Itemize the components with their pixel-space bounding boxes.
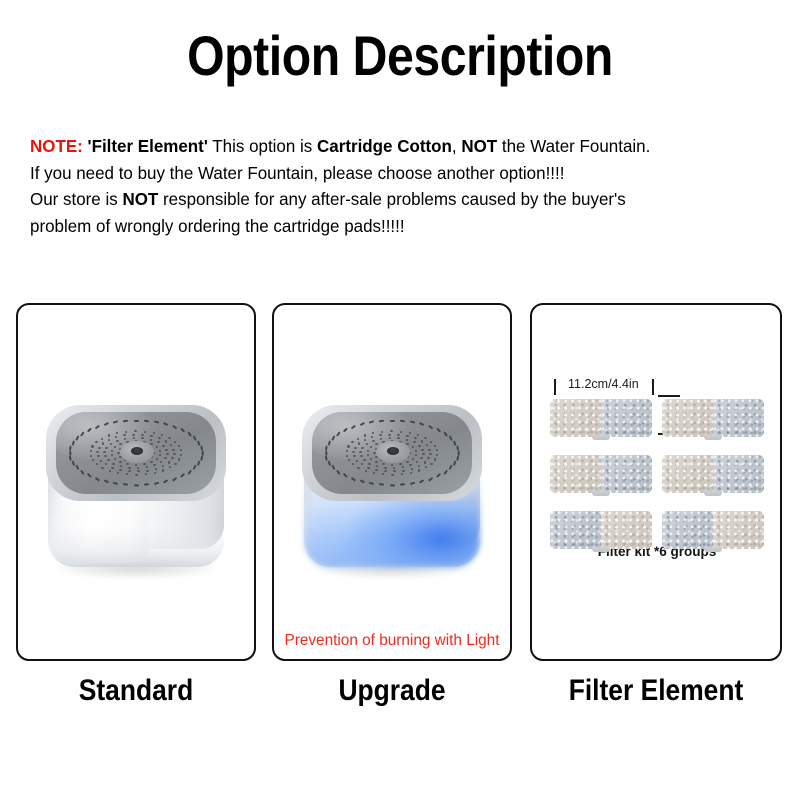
- fountain-water-outlet-hole: [387, 447, 399, 455]
- lid-perforation-dot: [413, 441, 416, 443]
- page-title: Option Description: [56, 28, 744, 84]
- lid-perforation-dot: [116, 440, 119, 442]
- lid-perforation-dash: [187, 431, 192, 436]
- lid-perforation-dot: [168, 437, 171, 439]
- lid-perforation-dot: [393, 470, 396, 472]
- lid-perforation-dash: [154, 421, 159, 425]
- lid-perforation-dot: [154, 472, 157, 474]
- cartridge-tab: [704, 491, 722, 496]
- lid-perforation-dot: [393, 467, 396, 469]
- lid-perforation-dot: [412, 458, 415, 460]
- lid-perforation-dot: [103, 451, 106, 453]
- note-line-2: If you need to buy the Water Fountain, p…: [30, 160, 759, 187]
- option-panel-filter-element[interactable]: 11.2cm/4.4in 4.3 cm /1.7in Filter kit *6…: [530, 303, 782, 661]
- lid-perforation-dot: [112, 463, 115, 465]
- lid-perforation-dot: [157, 441, 160, 443]
- lid-perforation-dash: [154, 482, 159, 486]
- lid-perforation-dot: [128, 467, 131, 469]
- lid-perforation-dash: [80, 469, 85, 474]
- lid-perforation-dot: [144, 431, 147, 433]
- lid-perforation-dash: [343, 473, 348, 478]
- lid-perforation-dot: [384, 470, 387, 472]
- lid-perforation-dash: [193, 465, 197, 471]
- note-line3-text2: responsible for any after-sale problems …: [158, 189, 625, 209]
- lid-perforation-dot: [424, 461, 427, 463]
- lid-perforation-dot: [174, 463, 177, 465]
- lid-perforation-dash: [180, 473, 185, 478]
- note-line3-text1: Our store is: [30, 189, 122, 209]
- lid-perforation-dot: [146, 466, 149, 468]
- lid-perforation-dot: [161, 434, 164, 436]
- lid-perforation-dash: [428, 425, 433, 430]
- cartridge-half-right: [713, 511, 764, 549]
- lid-perforation-dot: [155, 468, 158, 470]
- lid-perforation-dot: [119, 461, 122, 463]
- lid-perforation-dash: [443, 431, 448, 436]
- cartridge-half-left: [662, 399, 713, 437]
- lid-perforation-dot: [137, 467, 140, 469]
- lid-perforation-dash: [456, 455, 459, 460]
- lid-perforation-dot: [162, 469, 165, 471]
- lid-perforation-dot: [96, 451, 99, 453]
- water-fountain-upgrade-image: [294, 397, 490, 587]
- lid-perforation-dash: [336, 469, 341, 474]
- note-block: NOTE: 'Filter Element' This option is Ca…: [30, 133, 759, 239]
- lid-perforation-dash: [71, 460, 75, 465]
- lid-perforation-dash: [390, 484, 395, 486]
- lid-perforation-dash: [200, 445, 203, 450]
- lid-perforation-dot: [384, 467, 387, 469]
- note-label: NOTE:: [30, 136, 83, 156]
- lid-perforation-dot: [180, 449, 183, 451]
- lid-perforation-dash: [456, 445, 459, 450]
- lid-perforation-dash: [75, 465, 79, 471]
- cartridge-half-left: [550, 455, 601, 493]
- option-panel-upgrade[interactable]: Prevention of burning with Light: [272, 303, 512, 661]
- cartridge-tab: [592, 547, 610, 552]
- lid-perforation-dash: [449, 465, 453, 471]
- lid-perforation-dash: [144, 483, 149, 486]
- lid-perforation-dot: [415, 454, 418, 456]
- lid-perforation-dot: [402, 466, 405, 468]
- lid-perforation-dot: [391, 474, 394, 476]
- lid-perforation-dot: [162, 445, 165, 447]
- lid-perforation-dot: [111, 467, 114, 469]
- water-fountain-standard-image: [38, 397, 234, 587]
- lid-perforation-dot: [409, 432, 412, 434]
- lid-perforation-dash: [369, 482, 374, 486]
- lid-perforation-dot: [365, 470, 368, 472]
- lid-perforation-dash: [443, 469, 448, 474]
- option-label-filter-element: Filter Element: [540, 672, 772, 710]
- cartridge-half-right: [713, 455, 764, 493]
- fountain-water-outlet-hole: [131, 447, 143, 455]
- lid-perforation-dot: [135, 464, 138, 466]
- lid-perforation-dot: [141, 434, 144, 436]
- lid-perforation-dot: [410, 472, 413, 474]
- lid-perforation-dot: [105, 447, 108, 449]
- lid-perforation-dash: [428, 476, 433, 481]
- lid-perforation-dot: [166, 453, 169, 455]
- lid-perforation-dot: [126, 473, 129, 475]
- lid-perforation-dot: [90, 455, 93, 457]
- lid-perforation-dot: [416, 461, 419, 463]
- lid-perforation-dash: [69, 450, 71, 455]
- lid-perforation-dot: [424, 437, 427, 439]
- lid-perforation-dot: [406, 461, 409, 463]
- lid-perforation-dot: [347, 445, 350, 447]
- lid-perforation-dot: [117, 472, 120, 474]
- note-line1-cartridge-cotton: Cartridge Cotton: [317, 136, 452, 156]
- lid-perforation-dot: [170, 444, 173, 446]
- filter-cartridge: [662, 511, 764, 549]
- lid-perforation-dot: [436, 449, 439, 451]
- lid-perforation-dash: [419, 422, 425, 426]
- lid-perforation-dot: [108, 434, 111, 436]
- lid-perforation-dot: [434, 458, 437, 460]
- lid-perforation-dot: [352, 451, 355, 453]
- lid-perforation-dot: [373, 472, 376, 474]
- lid-perforation-dot: [402, 470, 405, 472]
- lid-perforation-dash: [410, 421, 415, 425]
- lid-perforation-dash: [350, 476, 355, 481]
- lid-perforation-dot: [105, 463, 108, 465]
- lid-perforation-dot: [391, 464, 394, 466]
- lid-perforation-dot: [417, 434, 420, 436]
- note-line1-filter-element: 'Filter Element': [83, 136, 208, 156]
- filter-cartridge: [662, 455, 764, 493]
- dim-width-tick-right: [652, 379, 654, 395]
- note-line3-not: NOT: [122, 189, 158, 209]
- lid-perforation-dot: [119, 443, 122, 445]
- lid-perforation-dot: [137, 470, 140, 472]
- lid-perforation-dot: [376, 465, 379, 467]
- cartridge-half-right: [601, 511, 652, 549]
- lid-perforation-dot: [375, 461, 378, 463]
- lid-perforation-dot: [158, 437, 161, 439]
- lid-perforation-dot: [418, 469, 421, 471]
- cartridge-tab: [704, 547, 722, 552]
- lid-perforation-dot: [361, 447, 364, 449]
- lid-perforation-dot: [120, 465, 123, 467]
- cartridge-tab: [704, 435, 722, 440]
- lid-perforation-dash: [325, 450, 327, 455]
- lid-perforation-dot: [364, 434, 367, 436]
- lid-perforation-dot: [370, 458, 373, 460]
- lid-perforation-dash: [103, 479, 109, 483]
- lid-perforation-dot: [382, 473, 385, 475]
- cartridge-half-left: [662, 455, 713, 493]
- lid-perforation-dot: [427, 457, 430, 459]
- lid-perforation-dot: [146, 470, 149, 472]
- lid-perforation-dot: [409, 464, 412, 466]
- note-line-3: Our store is NOT responsible for any aft…: [30, 186, 759, 213]
- lid-perforation-dot: [372, 440, 375, 442]
- lid-perforation-dot: [114, 458, 117, 460]
- lid-perforation-dash: [359, 479, 365, 483]
- lid-perforation-dot: [412, 446, 415, 448]
- lid-perforation-dot: [401, 473, 404, 475]
- lid-perforation-dot: [434, 445, 437, 447]
- lid-perforation-dot: [388, 434, 391, 436]
- lid-perforation-dot: [382, 463, 385, 465]
- lid-perforation-dot: [143, 463, 146, 465]
- cartridge-tab: [592, 491, 610, 496]
- lid-perforation-dash: [197, 460, 201, 465]
- cartridge-tab: [592, 435, 610, 440]
- lid-perforation-dot: [156, 446, 159, 448]
- lid-perforation-dot: [104, 455, 107, 457]
- cartridge-half-right: [713, 399, 764, 437]
- lid-perforation-dot: [173, 453, 176, 455]
- lid-perforation-dot: [425, 466, 428, 468]
- lid-perforation-dot: [164, 457, 167, 459]
- cartridge-half-left: [550, 399, 601, 437]
- lid-perforation-dash: [400, 483, 405, 486]
- fountain-lid: [38, 397, 234, 509]
- lid-perforation-dot: [126, 463, 129, 465]
- lid-perforation-dot: [354, 447, 357, 449]
- lid-perforation-dot: [135, 474, 138, 476]
- lid-perforation-dot: [367, 467, 370, 469]
- lid-perforation-dot: [361, 463, 364, 465]
- lid-perforation-dash: [327, 460, 331, 465]
- lid-perforation-dot: [159, 454, 162, 456]
- lid-perforation-dot: [352, 463, 355, 465]
- filter-cartridge: [550, 511, 652, 549]
- lid-perforation-dot: [436, 454, 439, 456]
- upgrade-caption: Prevention of burning with Light: [275, 632, 509, 650]
- lid-perforation-dot: [418, 465, 421, 467]
- lid-perforation-dot: [400, 431, 403, 433]
- lid-perforation-dot: [169, 466, 172, 468]
- lid-perforation-dot: [429, 453, 432, 455]
- lid-perforation-dot: [420, 457, 423, 459]
- lid-perforation-dash: [172, 425, 177, 430]
- lid-perforation-dash: [379, 483, 384, 486]
- lid-perforation-dot: [101, 467, 104, 469]
- lid-perforation-dash: [419, 479, 425, 483]
- option-panel-standard[interactable]: [16, 303, 256, 661]
- lid-perforation-dash: [163, 479, 169, 483]
- lid-perforation-dash: [410, 482, 415, 486]
- lid-perforation-dot: [421, 440, 424, 442]
- fountain-lid: [294, 397, 490, 509]
- note-line-1: NOTE: 'Filter Element' This option is Ca…: [30, 133, 759, 160]
- lid-perforation-dot: [180, 454, 183, 456]
- lid-perforation-dot: [399, 463, 402, 465]
- lid-perforation-dot: [430, 463, 433, 465]
- note-line1-text2: ,: [452, 136, 461, 156]
- dim-width-label: 11.2cm/4.4in: [568, 377, 639, 391]
- lid-perforation-dot: [415, 450, 418, 452]
- lid-perforation-dot: [368, 463, 371, 465]
- lid-perforation-dot: [174, 441, 177, 443]
- lid-perforation-dot: [96, 463, 99, 465]
- lid-perforation-dot: [119, 469, 122, 471]
- option-label-standard: Standard: [30, 672, 241, 710]
- dim-width-tick-left: [554, 379, 556, 395]
- cartridge-half-right: [601, 399, 652, 437]
- lid-perforation-dot: [172, 449, 175, 451]
- lid-perforation-dot: [430, 441, 433, 443]
- lid-perforation-dot: [109, 470, 112, 472]
- lid-perforation-dot: [411, 468, 414, 470]
- lid-perforation-dot: [397, 434, 400, 436]
- lid-perforation-dot: [150, 461, 153, 463]
- lid-perforation-dash: [163, 422, 169, 426]
- lid-perforation-dot: [145, 473, 148, 475]
- lid-perforation-dot: [375, 469, 378, 471]
- lid-perforation-dot: [414, 437, 417, 439]
- lid-perforation-dot: [134, 430, 137, 432]
- lid-perforation-dash: [94, 476, 99, 481]
- lid-perforation-dash: [436, 428, 441, 433]
- lid-perforation-dot: [128, 470, 131, 472]
- lid-perforation-dash: [172, 476, 177, 481]
- note-line1-text1: This option is: [208, 136, 317, 156]
- lid-perforation-dot: [375, 443, 378, 445]
- lid-perforation-dash: [200, 455, 203, 460]
- filter-cartridge: [550, 455, 652, 493]
- cartridge-half-left: [662, 511, 713, 549]
- note-line-4: problem of wrongly ordering the cartridg…: [30, 213, 759, 240]
- lid-perforation-dash: [453, 460, 457, 465]
- lid-perforation-dot: [389, 437, 392, 439]
- lid-perforation-dot: [153, 464, 156, 466]
- lid-perforation-dot: [165, 449, 168, 451]
- lid-perforation-dot: [178, 458, 181, 460]
- lid-perforation-dot: [168, 461, 171, 463]
- lid-perforation-dot: [98, 447, 101, 449]
- lid-perforation-dot: [171, 457, 174, 459]
- lid-perforation-dot: [162, 465, 165, 467]
- option-label-upgrade: Upgrade: [286, 672, 497, 710]
- lid-perforation-dot: [165, 440, 168, 442]
- lid-perforation-dash: [123, 483, 128, 486]
- filter-cartridge: [550, 399, 652, 437]
- lid-perforation-dot: [390, 430, 393, 432]
- option-panels: Prevention of burning with Light 11.2cm/…: [0, 303, 800, 661]
- lid-perforation-dot: [133, 437, 136, 439]
- lid-perforation-dot: [178, 445, 181, 447]
- note-line1-not: NOT: [461, 136, 497, 156]
- lid-perforation-dash: [180, 428, 185, 433]
- lid-perforation-dot: [422, 453, 425, 455]
- lid-perforation-dot: [160, 461, 163, 463]
- lid-perforation-dot: [156, 458, 159, 460]
- lid-perforation-dot: [359, 451, 362, 453]
- lid-perforation-dash: [187, 469, 192, 474]
- lid-perforation-dot: [346, 455, 349, 457]
- lid-perforation-dot: [418, 445, 421, 447]
- lid-perforation-dash: [331, 465, 335, 471]
- lid-perforation-dot: [132, 434, 135, 436]
- cartridge-half-left: [550, 511, 601, 549]
- option-labels-row: Standard Upgrade Filter Element: [0, 672, 800, 720]
- lid-perforation-dot: [91, 445, 94, 447]
- lid-perforation-dot: [421, 449, 424, 451]
- lid-perforation-dot: [360, 455, 363, 457]
- lid-perforation-dash: [134, 484, 139, 486]
- cartridge-half-right: [601, 455, 652, 493]
- lid-perforation-dash: [87, 473, 92, 478]
- lid-perforation-dot: [426, 444, 429, 446]
- note-line1-text3: the Water Fountain.: [497, 136, 650, 156]
- lid-perforation-dot: [428, 449, 431, 451]
- filter-cartridges-image: 11.2cm/4.4in 4.3 cm /1.7in Filter kit *6…: [546, 385, 768, 585]
- lid-perforation-dash: [436, 473, 441, 478]
- lid-perforation-dot: [108, 439, 111, 441]
- filter-cartridge: [662, 399, 764, 437]
- lid-perforation-dot: [153, 432, 156, 434]
- lid-perforation-dot: [364, 439, 367, 441]
- lid-perforation-dash: [113, 482, 118, 486]
- lid-perforation-dot: [159, 450, 162, 452]
- lid-perforation-dot: [357, 467, 360, 469]
